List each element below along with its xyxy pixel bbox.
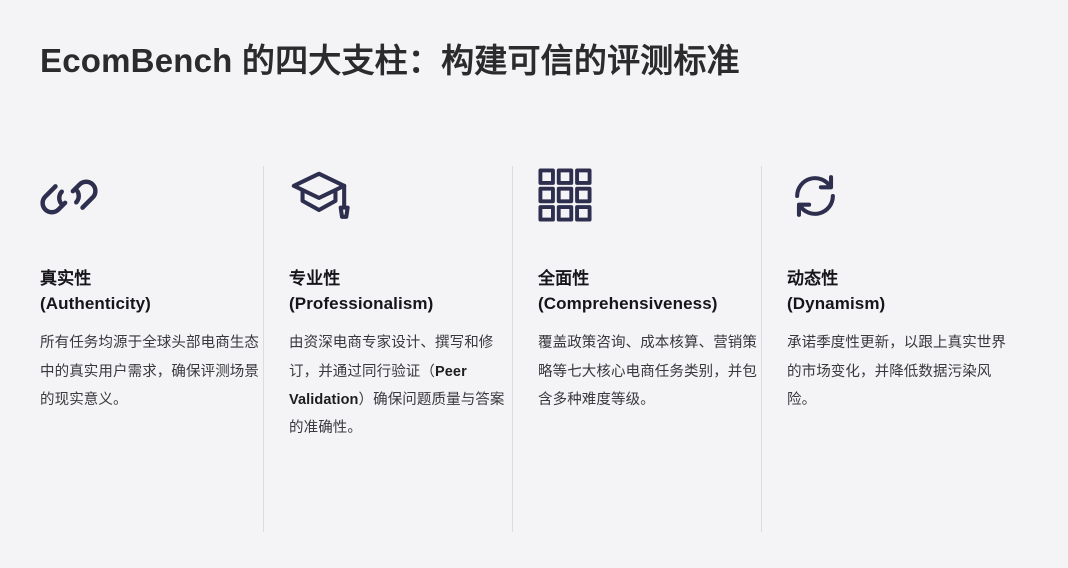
graduation-cap-icon (289, 168, 347, 230)
pillar-body: 所有任务均源于全球头部电商生态中的真实用户需求，确保评测场景的现实意义。 (40, 329, 261, 414)
pillar-heading-en: (Comprehensiveness) (538, 291, 759, 316)
slide-root: EcomBench 的四大支柱：构建可信的评测标准 真实性 (Authentic… (0, 0, 1068, 568)
pillar-heading: 专业性 (Professionalism) (289, 266, 510, 316)
pillar-card-comprehensiveness: 全面性 (Comprehensiveness) 覆盖政策咨询、成本核算、营销策略… (538, 168, 787, 536)
link-icon (40, 168, 98, 230)
pillar-body: 由资深电商专家设计、撰写和修订，并通过同行验证（Peer Validation）… (289, 329, 510, 442)
pillar-heading-en: (Authenticity) (40, 291, 261, 316)
grid-icon (538, 168, 596, 230)
pillar-heading-en: (Professionalism) (289, 291, 510, 316)
pillar-heading-cn: 动态性 (787, 266, 1008, 291)
pillar-card-dynamism: 动态性 (Dynamism) 承诺季度性更新，以跟上真实世界的市场变化，并降低数… (787, 168, 1036, 536)
pillar-body: 承诺季度性更新，以跟上真实世界的市场变化，并降低数据污染风险。 (787, 329, 1008, 414)
pillar-heading: 动态性 (Dynamism) (787, 266, 1008, 316)
pillar-card-authenticity: 真实性 (Authenticity) 所有任务均源于全球头部电商生态中的真实用户… (40, 168, 289, 536)
pillar-body: 覆盖政策咨询、成本核算、营销策略等七大核心电商任务类别，并包含多种难度等级。 (538, 329, 759, 414)
refresh-cycle-icon (787, 168, 845, 230)
pillar-heading: 全面性 (Comprehensiveness) (538, 266, 759, 316)
pillar-heading-cn: 全面性 (538, 266, 759, 291)
pillar-heading: 真实性 (Authenticity) (40, 266, 261, 316)
pillars-row: 真实性 (Authenticity) 所有任务均源于全球头部电商生态中的真实用户… (40, 168, 1036, 536)
page-title: EcomBench 的四大支柱：构建可信的评测标准 (40, 40, 740, 83)
pillar-card-professionalism: 专业性 (Professionalism) 由资深电商专家设计、撰写和修订，并通… (289, 168, 538, 536)
pillar-heading-cn: 专业性 (289, 266, 510, 291)
pillar-heading-en: (Dynamism) (787, 291, 1008, 316)
pillar-heading-cn: 真实性 (40, 266, 261, 291)
